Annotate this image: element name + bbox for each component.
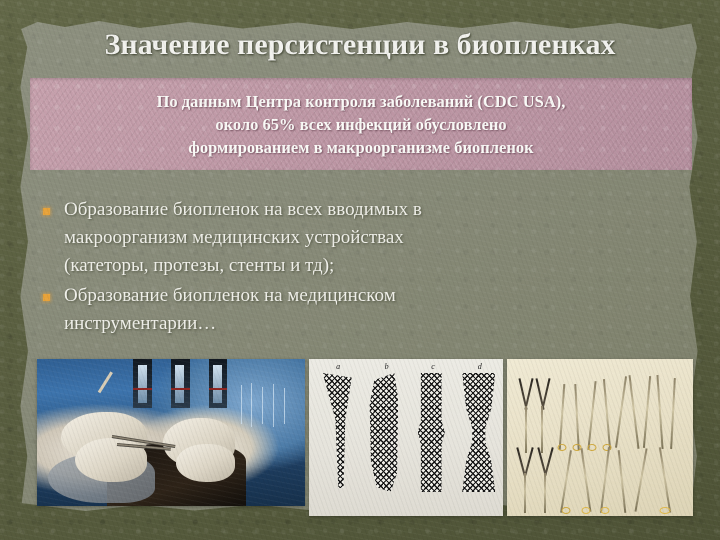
list-item: Образование биопленок на медицинском инс… xyxy=(36,282,676,338)
stent-shape-d xyxy=(462,373,495,492)
list-item: Образование биопленок на всех вводимых в… xyxy=(36,196,676,280)
stent-label-b: b xyxy=(385,362,389,371)
quote-line-3: формированием в макроорганизме биопленок xyxy=(188,136,533,159)
stent-label-c: c xyxy=(431,362,435,371)
square-bullet-icon xyxy=(43,294,50,301)
quote-line-2: около 65% всех инфекций обусловлено xyxy=(215,113,506,136)
slide-canvas: Значение персистенции в биопленках По да… xyxy=(0,0,720,540)
quote-line-1: По данным Центра контроля заболеваний (C… xyxy=(157,90,566,113)
stent-label-d: d xyxy=(478,362,482,371)
bullet-2-line-2: инструментарии… xyxy=(64,310,676,338)
surgical-instruments-photo xyxy=(507,359,693,516)
page-title: Значение персистенции в биопленках xyxy=(22,28,698,62)
surgical-procedure-photo xyxy=(37,359,305,506)
square-bullet-icon xyxy=(43,208,50,215)
quote-callout-box: По данным Центра контроля заболеваний (C… xyxy=(30,78,692,170)
stent-diagram-photo: a b c d xyxy=(309,359,503,516)
bullet-1-line-1: Образование биопленок на всех вводимых в xyxy=(64,196,676,224)
bullet-2-line-1: Образование биопленок на медицинском xyxy=(64,282,676,310)
stent-shape-a xyxy=(323,373,352,488)
stent-label-a: a xyxy=(336,362,340,371)
stent-shape-b xyxy=(369,373,398,492)
photo-strip: a b c d xyxy=(37,359,693,516)
stent-shape-c xyxy=(418,373,445,492)
bullet-1-line-2: макроорганизм медицинских устройствах xyxy=(64,224,676,252)
bullet-1-line-3: (катеторы, протезы, стенты и тд); xyxy=(64,252,676,280)
bullet-list: Образование биопленок на всех вводимых в… xyxy=(36,196,676,340)
